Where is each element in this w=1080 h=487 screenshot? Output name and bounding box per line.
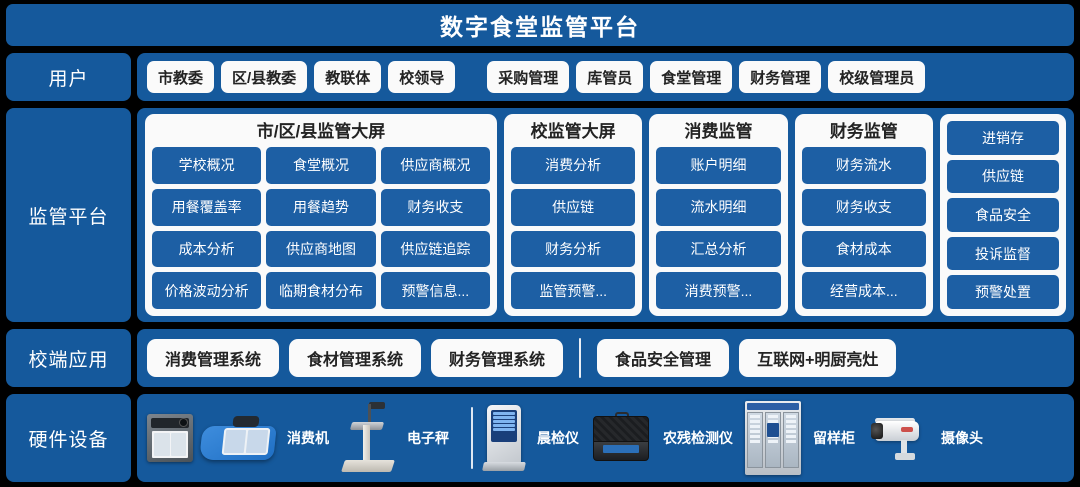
platform-tile[interactable]: 财务收支: [381, 189, 490, 226]
pos-terminal-wall-icon: [143, 410, 197, 466]
platform-tile[interactable]: 消费预警...: [656, 272, 780, 309]
platform-tile[interactable]: 预警信息...: [381, 272, 490, 309]
platform-tile[interactable]: 监管预警...: [511, 272, 635, 309]
users-chip-container: 市教委 区/县教委 教联体 校领导 采购管理 库管员 食堂管理 财务管理 校级管…: [137, 53, 1074, 101]
morning-check-machine-icon: [483, 405, 525, 471]
platform-tile[interactable]: 财务分析: [511, 231, 635, 268]
platform-tile[interactable]: 价格波动分析: [152, 272, 261, 309]
platform-card-extra: 进销存 供应链 食品安全 投诉监督 预警处置: [940, 114, 1066, 316]
hardware-icon-group: [143, 410, 275, 466]
hardware-item-morning-check: 晨检仪: [483, 394, 591, 482]
platform-tile[interactable]: 供应链: [511, 189, 635, 226]
hardware-container: 消费机 电子秤 晨检仪: [137, 394, 1074, 482]
card-tile-grid: 账户明细 流水明细 汇总分析 消费预警...: [656, 147, 780, 309]
platform-tile[interactable]: 用餐覆盖率: [152, 189, 261, 226]
row-label-hardware: 硬件设备: [6, 394, 131, 482]
user-role-chip[interactable]: 库管员: [576, 61, 643, 93]
row-label-school-apps: 校端应用: [6, 329, 131, 387]
platform-tile[interactable]: 供应商概况: [381, 147, 490, 184]
user-role-chip[interactable]: 教联体: [314, 61, 381, 93]
user-role-chip[interactable]: 区/县教委: [221, 61, 307, 93]
platform-tile[interactable]: 供应商地图: [266, 231, 375, 268]
school-app-chip[interactable]: 食品安全管理: [597, 339, 729, 377]
user-role-chip[interactable]: 财务管理: [739, 61, 821, 93]
platform-tile[interactable]: 财务流水: [802, 147, 926, 184]
platform-tile[interactable]: 供应链: [947, 160, 1059, 194]
card-tile-grid: 消费分析 供应链 财务分析 监管预警...: [511, 147, 635, 309]
hardware-item-camera: 摄像头: [867, 394, 995, 482]
school-app-chip[interactable]: 互联网+明厨亮灶: [739, 339, 896, 377]
row-hardware: 硬件设备 消费机: [6, 394, 1074, 482]
platform-tile[interactable]: 汇总分析: [656, 231, 780, 268]
platform-card-container: 市/区/县监管大屏 学校概况 食堂概况 供应商概况 用餐覆盖率 用餐趋势 财务收…: [137, 108, 1074, 322]
pesticide-residue-detector-icon: [591, 412, 651, 464]
electronic-scale-icon: [341, 402, 395, 474]
platform-tile[interactable]: 食堂概况: [266, 147, 375, 184]
card-tile-grid: 学校概况 食堂概况 供应商概况 用餐覆盖率 用餐趋势 财务收支 成本分析 供应商…: [152, 147, 490, 309]
school-app-chip[interactable]: 消费管理系统: [147, 339, 279, 377]
row-label-platform: 监管平台: [6, 108, 131, 322]
row-school-apps: 校端应用 消费管理系统 食材管理系统 财务管理系统 食品安全管理 互联网+明厨亮…: [6, 329, 1074, 387]
page-title-bar: 数字食堂监管平台: [6, 4, 1074, 46]
platform-tile[interactable]: 进销存: [947, 121, 1059, 155]
user-role-chip[interactable]: 校领导: [388, 61, 455, 93]
user-role-chip[interactable]: 食堂管理: [650, 61, 732, 93]
hardware-label: 电子秤: [401, 428, 461, 448]
platform-tile[interactable]: 流水明细: [656, 189, 780, 226]
card-tile-grid: 进销存 供应链 食品安全 投诉监督 预警处置: [947, 121, 1059, 309]
camera-icon: [867, 413, 929, 463]
hardware-label: 消费机: [281, 428, 341, 448]
sample-retention-cabinet-icon: [745, 401, 801, 475]
platform-tile[interactable]: 财务收支: [802, 189, 926, 226]
hardware-group-divider: [471, 407, 473, 469]
row-label-users: 用户: [6, 53, 131, 101]
hardware-label: 摄像头: [935, 428, 995, 448]
card-tile-grid: 财务流水 财务收支 食材成本 经营成本...: [802, 147, 926, 309]
platform-tile[interactable]: 成本分析: [152, 231, 261, 268]
pos-terminal-desk-icon: [201, 412, 275, 464]
platform-tile[interactable]: 消费分析: [511, 147, 635, 184]
card-title: 消费监管: [656, 119, 780, 147]
platform-tile[interactable]: 预警处置: [947, 275, 1059, 309]
platform-tile[interactable]: 账户明细: [656, 147, 780, 184]
platform-tile[interactable]: 临期食材分布: [266, 272, 375, 309]
card-title: 财务监管: [802, 119, 926, 147]
hardware-item-pos: 消费机: [143, 394, 341, 482]
platform-tile[interactable]: 食材成本: [802, 231, 926, 268]
school-app-chip[interactable]: 财务管理系统: [431, 339, 563, 377]
hardware-item-scale: 电子秤: [341, 394, 461, 482]
row-users: 用户 市教委 区/县教委 教联体 校领导 采购管理 库管员 食堂管理 财务管理 …: [6, 53, 1074, 101]
platform-card-school-screen: 校监管大屏 消费分析 供应链 财务分析 监管预警...: [504, 114, 642, 316]
hardware-label: 农残检测仪: [657, 428, 745, 448]
hardware-label: 留样柜: [807, 428, 867, 448]
hardware-label: 晨检仪: [531, 428, 591, 448]
diagram-root: 数字食堂监管平台 用户 市教委 区/县教委 教联体 校领导 采购管理 库管员 食…: [0, 0, 1080, 487]
platform-card-city-district-screen: 市/区/县监管大屏 学校概况 食堂概况 供应商概况 用餐覆盖率 用餐趋势 财务收…: [145, 114, 497, 316]
school-apps-container: 消费管理系统 食材管理系统 财务管理系统 食品安全管理 互联网+明厨亮灶: [137, 329, 1074, 387]
apps-group-divider: [579, 338, 581, 378]
platform-card-consumption: 消费监管 账户明细 流水明细 汇总分析 消费预警...: [649, 114, 787, 316]
row-platform: 监管平台 市/区/县监管大屏 学校概况 食堂概况 供应商概况 用餐覆盖率 用餐趋…: [6, 108, 1074, 322]
user-role-chip[interactable]: 校级管理员: [828, 61, 925, 93]
platform-tile[interactable]: 食品安全: [947, 198, 1059, 232]
card-title: 校监管大屏: [511, 119, 635, 147]
platform-tile[interactable]: 供应链追踪: [381, 231, 490, 268]
school-app-chip[interactable]: 食材管理系统: [289, 339, 421, 377]
hardware-item-pesticide-detector: 农残检测仪: [591, 394, 745, 482]
user-role-chip[interactable]: 市教委: [147, 61, 214, 93]
card-title: 市/区/县监管大屏: [152, 119, 490, 147]
hardware-item-sample-cabinet: 留样柜: [745, 394, 867, 482]
platform-tile[interactable]: 投诉监督: [947, 237, 1059, 271]
user-role-chip[interactable]: 采购管理: [487, 61, 569, 93]
platform-tile[interactable]: 用餐趋势: [266, 189, 375, 226]
page-title: 数字食堂监管平台: [440, 8, 640, 42]
platform-card-finance: 财务监管 财务流水 财务收支 食材成本 经营成本...: [795, 114, 933, 316]
platform-tile[interactable]: 经营成本...: [802, 272, 926, 309]
platform-tile[interactable]: 学校概况: [152, 147, 261, 184]
